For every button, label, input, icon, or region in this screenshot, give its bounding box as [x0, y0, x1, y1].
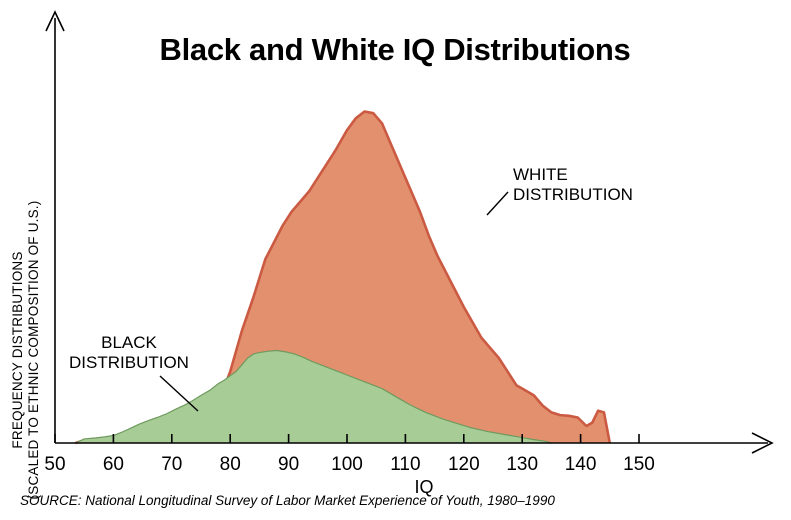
x-axis-tick-label: 60: [103, 454, 124, 475]
black-distribution-label-line2: DISTRIBUTION: [69, 353, 189, 372]
x-axis-tick-label: 80: [220, 454, 241, 475]
source-note: SOURCE: National Longitudinal Survey of …: [20, 493, 555, 508]
x-axis-tick-label: 50: [44, 454, 65, 475]
x-axis-tick-label: 100: [331, 454, 363, 475]
black-distribution-label-line1: BLACK: [101, 333, 157, 352]
x-axis-tick-label: 130: [506, 454, 538, 475]
chart-figure: Black and White IQ Distributions 5060708…: [0, 0, 791, 520]
white-distribution-label-line2: DISTRIBUTION: [513, 185, 633, 204]
iq-distributions-chart: Black and White IQ Distributions 5060708…: [0, 0, 791, 520]
x-axis-tick-label: 150: [623, 454, 655, 475]
x-axis-tick-label: 140: [565, 454, 597, 475]
white-distribution-label-line1: WHITE: [513, 165, 568, 184]
x-axis-tick-label: 120: [448, 454, 480, 475]
x-axis-tick-label: 110: [390, 454, 420, 475]
y-axis-label-line2: (SCALED TO ETHNIC COMPOSITION OF U.S.): [26, 201, 41, 500]
x-axis-tick-label: 90: [278, 454, 299, 475]
x-axis-tick-label: 70: [161, 454, 182, 475]
page-title: Black and White IQ Distributions: [160, 32, 631, 67]
y-axis-label-line1: FREQUENCY DISTRIBUTIONS: [10, 251, 25, 448]
